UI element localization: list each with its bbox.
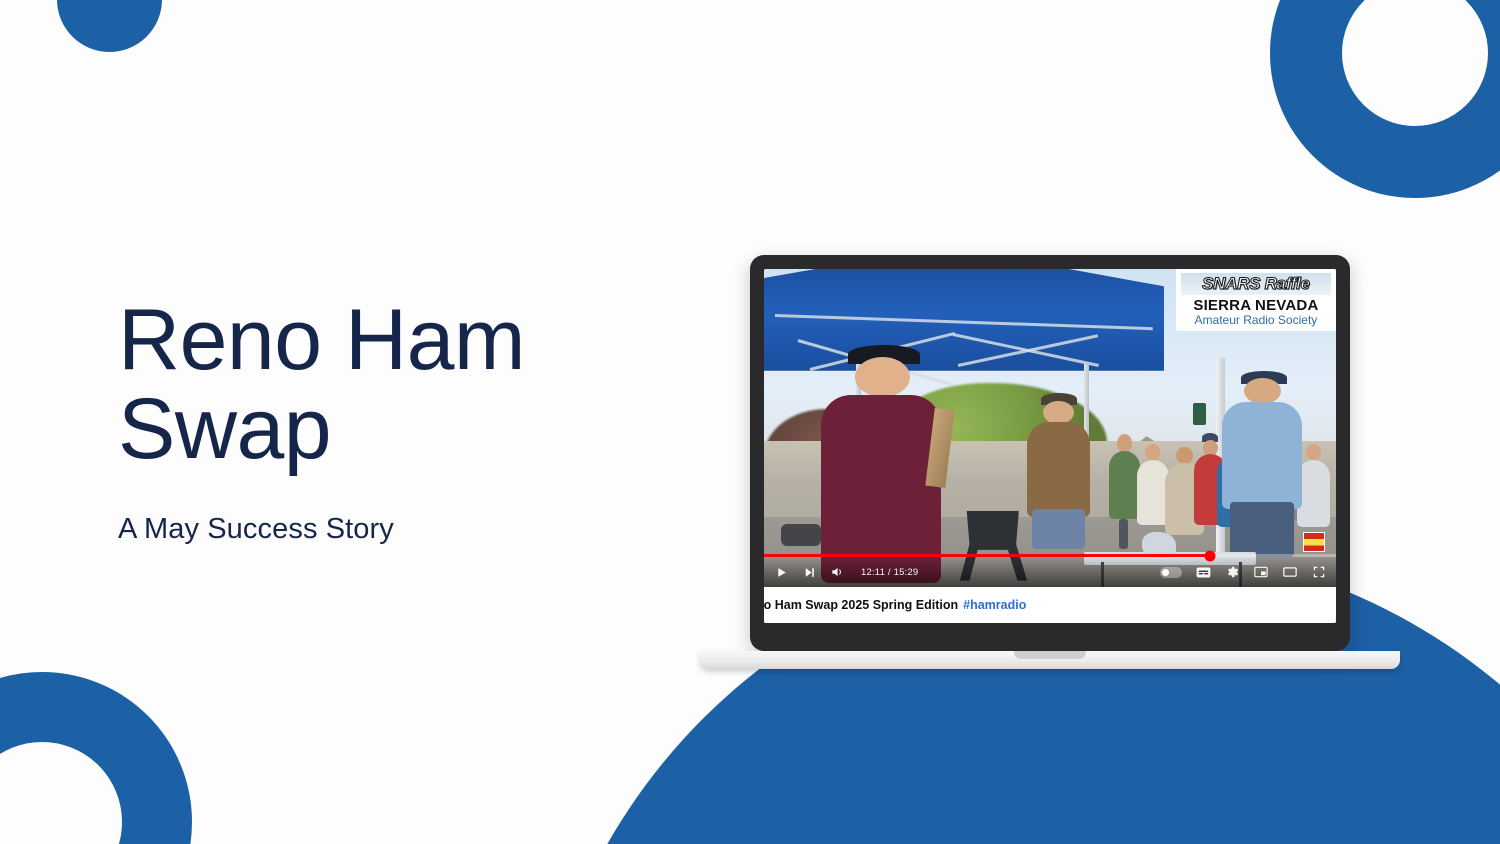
closed-captions-icon[interactable]: [1195, 564, 1211, 580]
snars-org-name: SIERRA NEVADA: [1181, 298, 1331, 313]
slide-canvas: Reno Ham Swap A May Success Story: [0, 0, 1500, 844]
video-player[interactable]: SNARS Raffle SIERRA NEVADA Amateur Radio…: [764, 269, 1336, 587]
laptop-notch: [1014, 651, 1086, 659]
scene-person-brown-jacket: [1027, 393, 1090, 546]
player-controls-bar: 12:11 / 15:29: [764, 557, 1336, 587]
player-time-display: 12:11 / 15:29: [861, 567, 918, 578]
laptop-lid: SNARS Raffle SIERRA NEVADA Amateur Radio…: [750, 255, 1350, 651]
snars-raffle-title: SNARS Raffle: [1181, 273, 1331, 295]
scene-sticker-icon: [1303, 532, 1325, 552]
page-title: Reno Ham Swap: [118, 296, 678, 473]
laptop-screen: SNARS Raffle SIERRA NEVADA Amateur Radio…: [764, 269, 1336, 623]
ring-top-right-icon: [1270, 0, 1500, 198]
video-meta-inner: no Ham Swap 2025 Spring Edition #hamradi…: [764, 598, 1026, 612]
circle-top-left-icon: [57, 0, 162, 52]
video-meta-bar: no Ham Swap 2025 Spring Edition #hamradi…: [764, 587, 1336, 623]
player-controls-left: 12:11 / 15:29: [773, 564, 918, 580]
volume-icon[interactable]: [829, 564, 845, 580]
next-track-icon[interactable]: [801, 564, 817, 580]
snars-org-subtitle: Amateur Radio Society: [1181, 314, 1331, 326]
video-title[interactable]: no Ham Swap 2025 Spring Edition: [764, 598, 958, 612]
scene-person-maroon-shirt: [821, 345, 941, 580]
miniplayer-icon[interactable]: [1253, 564, 1269, 580]
laptop-mockup: SNARS Raffle SIERRA NEVADA Amateur Radio…: [700, 255, 1400, 669]
page-subtitle: A May Success Story: [118, 513, 678, 546]
video-hashtag-link[interactable]: #hamradio: [963, 598, 1026, 612]
play-icon[interactable]: [773, 564, 789, 580]
scene-motorcycle-icon: [781, 524, 821, 546]
snars-banner-overlay: SNARS Raffle SIERRA NEVADA Amateur Radio…: [1176, 269, 1336, 331]
player-controls-right: [1160, 564, 1327, 580]
scene-person-blue-shirt: [1222, 371, 1302, 555]
scene-water-bottle-icon: [1119, 519, 1128, 549]
scene-phone-icon: [1193, 403, 1206, 425]
gear-icon[interactable]: [1224, 564, 1240, 580]
autoplay-toggle[interactable]: [1160, 567, 1182, 578]
fullscreen-icon[interactable]: [1311, 564, 1327, 580]
theater-mode-icon[interactable]: [1282, 564, 1298, 580]
laptop-base: [700, 651, 1400, 669]
autoplay-knob: [1162, 569, 1169, 576]
ring-bottom-left-icon: [0, 672, 192, 844]
headline-block: Reno Ham Swap A May Success Story: [118, 296, 678, 546]
